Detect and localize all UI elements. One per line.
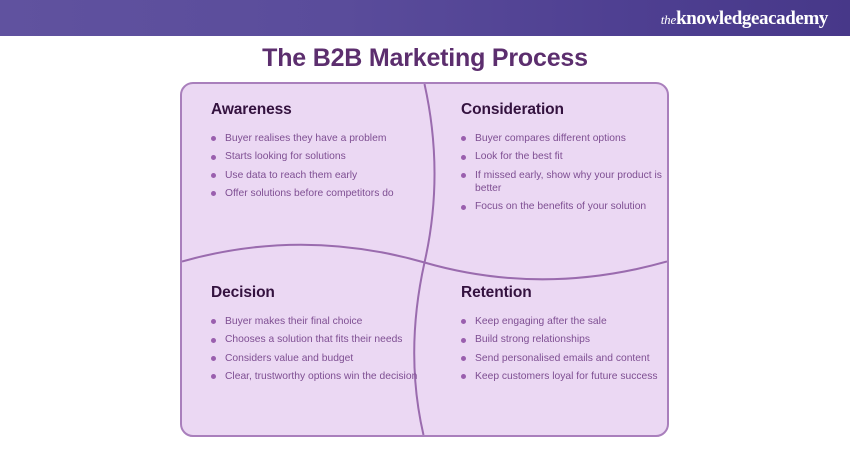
bullet-icon (211, 319, 216, 324)
top-header-bar: theknowledgeacademy (0, 0, 850, 36)
list-item-label: Buyer makes their final choice (225, 316, 362, 327)
list-item-label: Buyer realises they have a problem (225, 133, 386, 144)
quadrant-awareness: Awareness Buyer realises they have a pro… (211, 101, 423, 206)
page-title: The B2B Marketing Process (0, 44, 850, 73)
logo-main-text: knowledgeacademy (676, 9, 828, 28)
logo-the-text: the (661, 13, 676, 26)
list-item: Chooses a solution that fits their needs (211, 333, 423, 346)
bullet-icon (211, 191, 216, 196)
list-item-label: Buyer compares different options (475, 133, 626, 144)
list-item: Keep engaging after the sale (461, 315, 666, 328)
bullet-icon (211, 136, 216, 141)
bullet-icon (461, 155, 466, 160)
list-item-label: Use data to reach them early (225, 170, 357, 181)
quadrants-container: Awareness Buyer realises they have a pro… (182, 84, 667, 435)
quadrant-decision-title: Decision (211, 284, 423, 302)
list-item: Clear, trustworthy options win the decis… (211, 370, 423, 383)
list-item-label: Keep customers loyal for future success (475, 371, 658, 382)
bullet-icon (461, 205, 466, 210)
list-item: Build strong relationships (461, 333, 666, 346)
list-item: Buyer makes their final choice (211, 315, 423, 328)
list-item: Use data to reach them early (211, 169, 423, 182)
bullet-icon (461, 374, 466, 379)
list-item-label: Starts looking for solutions (225, 151, 346, 162)
bullet-icon (461, 136, 466, 141)
bullet-icon (461, 356, 466, 361)
list-item-label: Build strong relationships (475, 334, 590, 345)
list-item: Keep customers loyal for future success (461, 370, 666, 383)
bullet-icon (211, 356, 216, 361)
list-item-label: Keep engaging after the sale (475, 316, 607, 327)
knowledge-academy-logo: theknowledgeacademy (661, 9, 828, 28)
bullet-icon (211, 338, 216, 343)
list-item: Considers value and budget (211, 352, 423, 365)
list-item: Buyer compares different options (461, 132, 666, 145)
bullet-icon (211, 173, 216, 178)
quadrant-consideration-list: Buyer compares different options Look fo… (461, 132, 666, 214)
list-item: Starts looking for solutions (211, 150, 423, 163)
quadrant-awareness-title: Awareness (211, 101, 423, 119)
list-item-label: Considers value and budget (225, 353, 353, 364)
bullet-icon (461, 319, 466, 324)
list-item-label: Offer solutions before competitors do (225, 188, 394, 199)
bullet-icon (211, 155, 216, 160)
list-item: Send personalised emails and content (461, 352, 666, 365)
quadrant-awareness-list: Buyer realises they have a problem Start… (211, 132, 423, 200)
list-item: Offer solutions before competitors do (211, 187, 423, 200)
quadrant-retention-list: Keep engaging after the sale Build stron… (461, 315, 666, 383)
list-item-label: Look for the best fit (475, 151, 563, 162)
list-item-label: Send personalised emails and content (475, 353, 650, 364)
quadrant-decision: Decision Buyer makes their final choice … (211, 284, 423, 389)
quadrant-retention: Retention Keep engaging after the sale B… (461, 284, 666, 389)
quadrant-retention-title: Retention (461, 284, 666, 302)
list-item-label: Focus on the benefits of your solution (475, 201, 646, 212)
bullet-icon (461, 173, 466, 178)
quadrant-decision-list: Buyer makes their final choice Chooses a… (211, 315, 423, 383)
quadrant-consideration-title: Consideration (461, 101, 666, 119)
list-item: Look for the best fit (461, 150, 666, 163)
b2b-process-diagram-card: Awareness Buyer realises they have a pro… (180, 82, 669, 437)
list-item: Focus on the benefits of your solution (461, 200, 666, 213)
list-item: If missed early, show why your product i… (461, 169, 666, 195)
list-item-label: If missed early, show why your product i… (475, 170, 662, 194)
bullet-icon (461, 338, 466, 343)
list-item-label: Clear, trustworthy options win the decis… (225, 371, 417, 382)
bullet-icon (211, 374, 216, 379)
list-item-label: Chooses a solution that fits their needs (225, 334, 402, 345)
list-item: Buyer realises they have a problem (211, 132, 423, 145)
quadrant-consideration: Consideration Buyer compares different o… (461, 101, 666, 219)
